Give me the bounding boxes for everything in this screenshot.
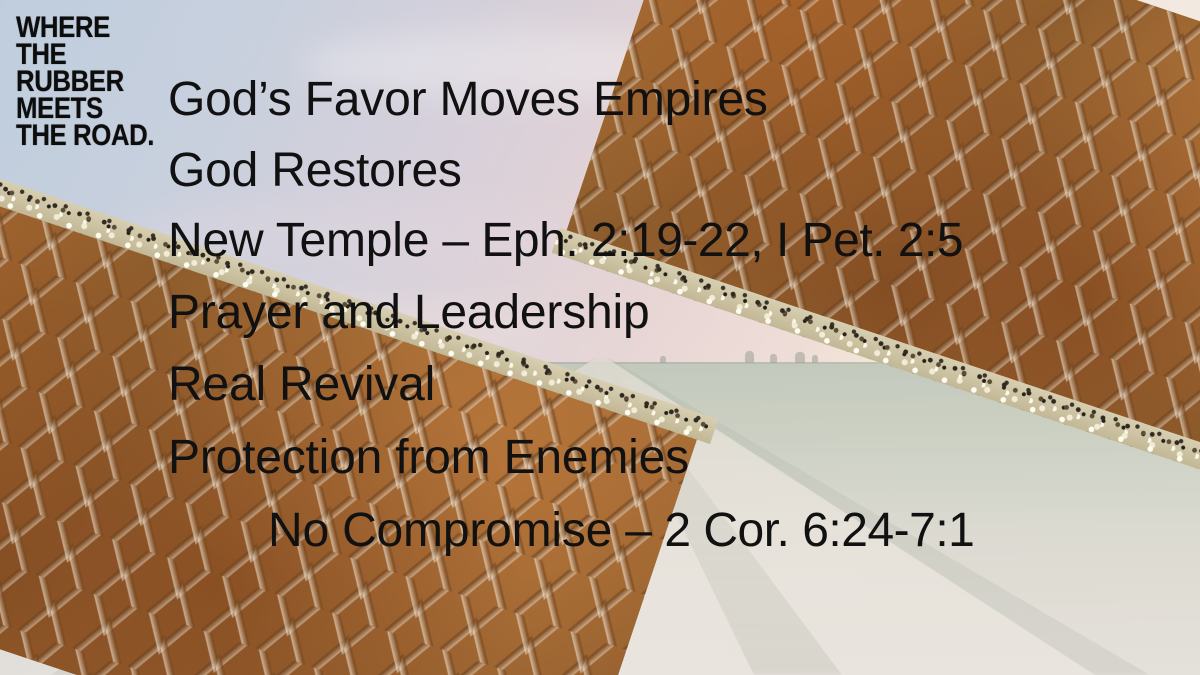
bullet-text: God’s Favor Moves Empires: [168, 73, 768, 126]
bullet-text: Prayer and Leadership: [168, 286, 649, 339]
bullet-line: Real Revival: [168, 357, 435, 412]
bullet-text: God Restores: [168, 144, 462, 197]
bullet-reference: – 2 Cor. 6:24-7:1: [625, 504, 974, 557]
bullet-line: New Temple – Eph. 2:19-22, I Pet. 2:5: [168, 213, 963, 268]
bullet-text: Real Revival: [168, 358, 435, 411]
bullet-text: Protection from Enemies: [168, 431, 689, 484]
presentation-slide: Angel WHERE THE RUBBER MEETS THE ROAD. G…: [0, 0, 1200, 675]
bullet-reference: – Eph. 2:19-22, I Pet. 2:5: [442, 214, 963, 267]
bullet-line: No Compromise – 2 Cor. 6:24-7:1: [268, 503, 974, 558]
bullet-line: God’s Favor Moves Empires: [168, 72, 768, 127]
slide-body-text: God’s Favor Moves Empires God Restores N…: [0, 0, 1200, 675]
bullet-line: Prayer and Leadership: [168, 285, 649, 340]
bullet-text: New Temple: [168, 214, 442, 267]
bullet-line: God Restores: [168, 143, 462, 198]
bullet-line: Protection from Enemies: [168, 430, 689, 485]
bullet-text: No Compromise: [268, 504, 625, 557]
